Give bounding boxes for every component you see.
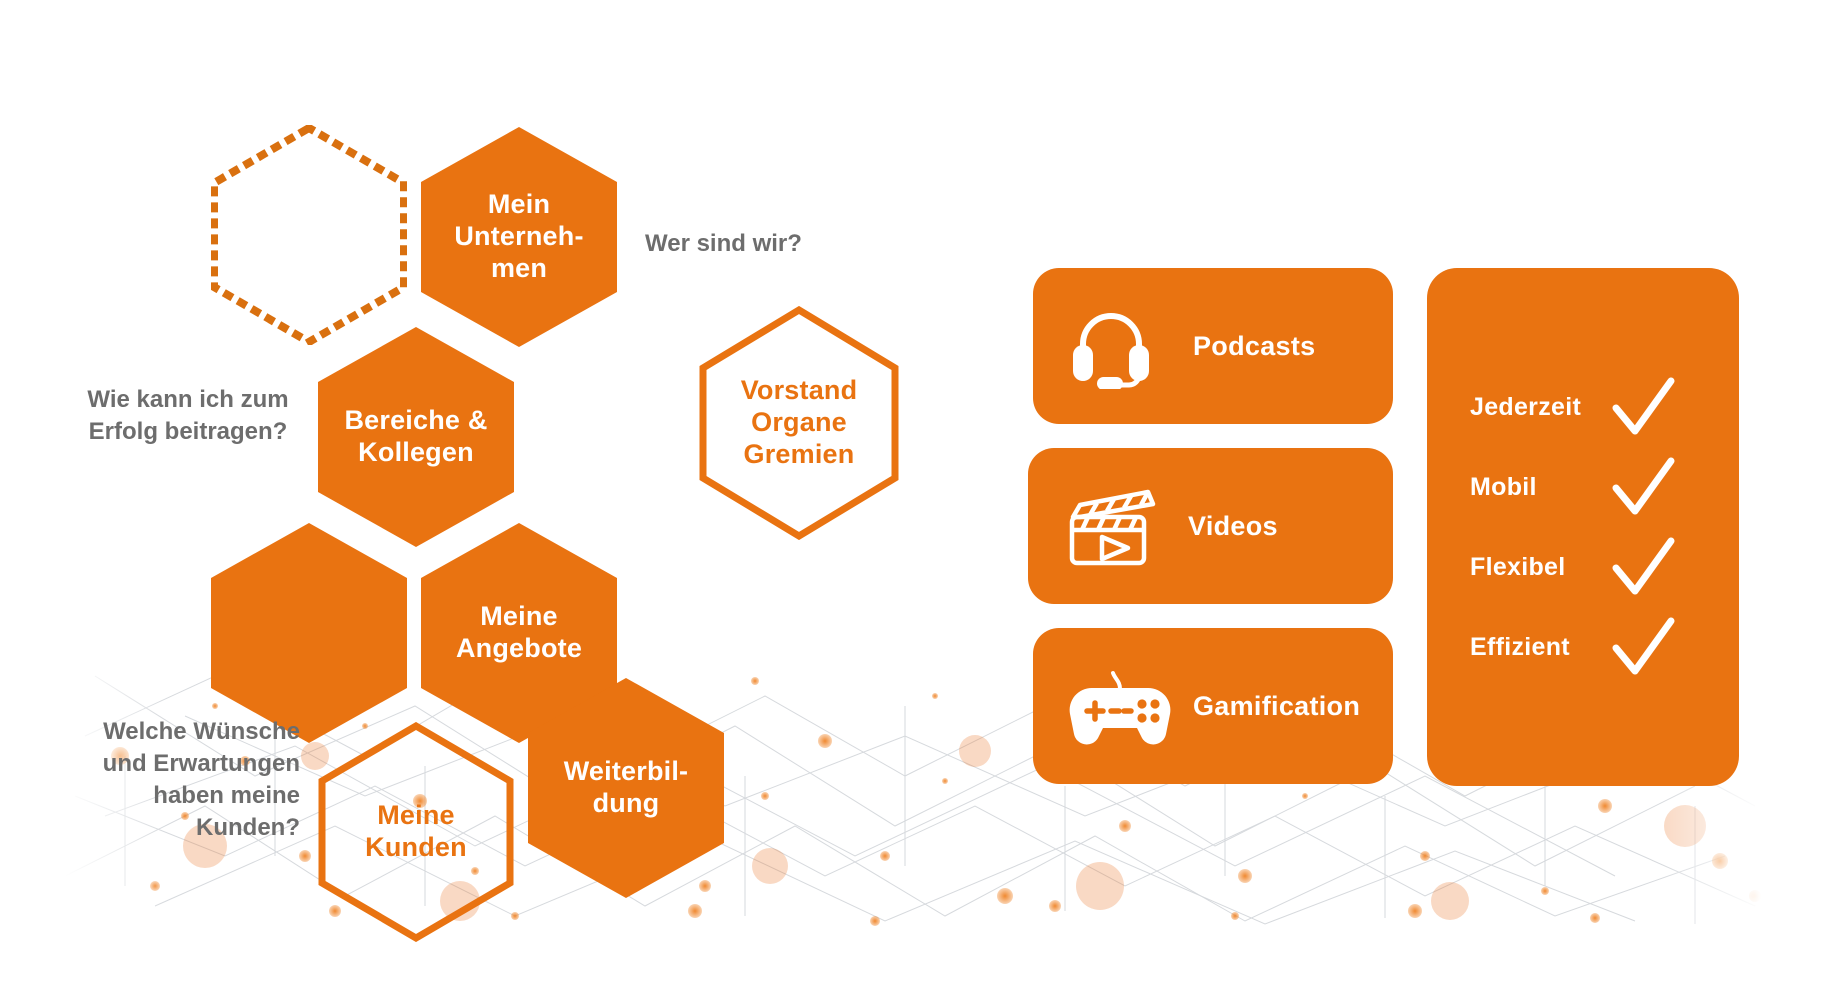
gamepad-icon: [1065, 663, 1175, 749]
benefit-label: Jederzeit: [1470, 393, 1598, 422]
benefit-row-mobil: Mobil: [1427, 447, 1739, 527]
hexagon-bereiche-kollegen[interactable]: Bereiche & Kollegen: [318, 327, 514, 547]
hexagon-label: Bereiche & Kollegen: [344, 405, 487, 469]
media-card-label: Podcasts: [1193, 331, 1315, 362]
question-wer-sind-wir: Wer sind wir?: [645, 228, 865, 260]
hexagon-vorstand-organe-gremien[interactable]: Vorstand Organe Gremien: [699, 306, 899, 540]
media-card-label: Gamification: [1193, 691, 1360, 722]
hexagon-label: Vorstand Organe Gremien: [741, 375, 858, 471]
slide-canvas: Mein Unterneh- men Bereiche & Kollegen M…: [0, 0, 1827, 1000]
benefit-label: Mobil: [1470, 473, 1598, 502]
media-card-label: Videos: [1188, 511, 1278, 542]
benefit-row-jederzeit: Jederzeit: [1427, 367, 1739, 447]
question-welche-wuensche: Welche Wünsche und Erwartungen haben mei…: [60, 716, 300, 844]
hexagon-empty-dotted: [211, 125, 407, 345]
hexagon-label: Mein Unterneh- men: [454, 189, 583, 285]
benefits-panel: Jederzeit Mobil Flexibel: [1427, 268, 1739, 786]
check-icon: [1608, 376, 1678, 438]
hexagon-meine-kunden[interactable]: Meine Kunden: [318, 722, 514, 942]
media-card-videos[interactable]: Videos: [1028, 448, 1393, 604]
hexagon-label: Meine Angebote: [456, 601, 582, 665]
benefit-row-effizient: Effizient: [1427, 607, 1739, 687]
benefit-label: Effizient: [1470, 633, 1598, 662]
check-icon: [1608, 456, 1678, 518]
hexagon-label: Weiterbil- dung: [564, 756, 689, 820]
check-icon: [1608, 536, 1678, 598]
headset-icon: [1065, 303, 1175, 389]
benefit-label: Flexibel: [1470, 553, 1598, 582]
media-card-gamification[interactable]: Gamification: [1033, 628, 1393, 784]
clapperboard-icon: [1060, 483, 1170, 569]
benefit-row-flexibel: Flexibel: [1427, 527, 1739, 607]
hexagon-mein-unternehmen[interactable]: Mein Unterneh- men: [421, 127, 617, 347]
check-icon: [1608, 616, 1678, 678]
hexagon-label: Meine Kunden: [365, 800, 467, 864]
question-wie-kann-ich: Wie kann ich zum Erfolg beitragen?: [78, 384, 298, 448]
media-card-podcasts[interactable]: Podcasts: [1033, 268, 1393, 424]
